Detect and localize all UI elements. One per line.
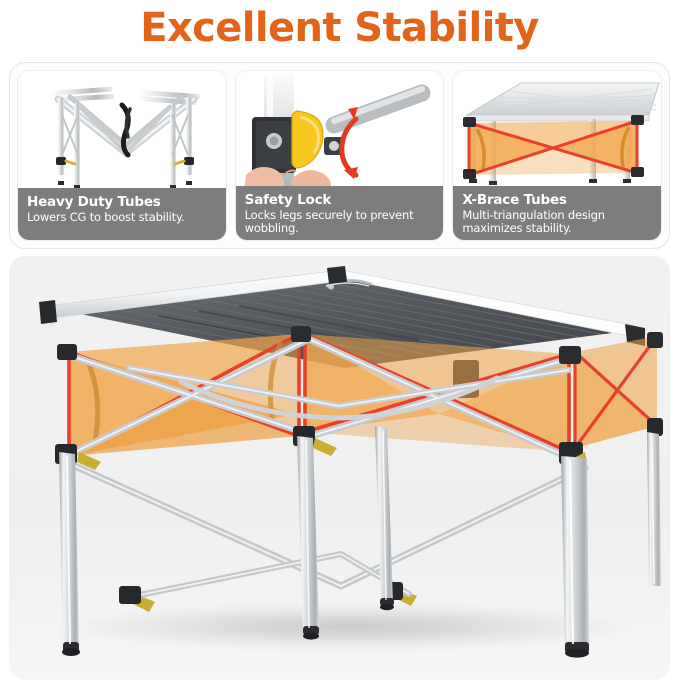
- feature-card-label: Heavy Duty Tubes Lowers CG to boost stab…: [18, 188, 226, 240]
- feature-card-heavy-duty-tubes[interactable]: Heavy Duty Tubes Lowers CG to boost stab…: [17, 70, 227, 241]
- feature-card-title: Safety Lock: [245, 192, 435, 208]
- folding-camp-table-illustration: [9, 256, 670, 680]
- feature-card-desc: Lowers CG to boost stability.: [27, 211, 217, 225]
- page-title: Excellent Stability: [0, 4, 679, 52]
- feature-card-title: Heavy Duty Tubes: [27, 194, 217, 210]
- feature-cards-row: Heavy Duty Tubes Lowers CG to boost stab…: [9, 62, 670, 249]
- feature-card-label: Safety Lock Locks legs securely to preve…: [236, 186, 444, 240]
- feature-card-title: X-Brace Tubes: [462, 192, 652, 208]
- table-with-orange-x-brace-highlight: [453, 71, 661, 186]
- feature-card-desc: Locks legs securely to prevent wobbling.: [245, 209, 435, 236]
- table-frame-x-legs-illustration: [18, 71, 226, 188]
- hero-product-image: [9, 256, 670, 680]
- feature-card-safety-lock[interactable]: Safety Lock Locks legs securely to preve…: [235, 70, 445, 241]
- infographic-page: Excellent Stability: [0, 0, 679, 698]
- feature-card-desc: Multi-triangulation design maximizes sta…: [462, 209, 652, 236]
- feature-card-x-brace-tubes[interactable]: X-Brace Tubes Multi-triangulation design…: [452, 70, 662, 241]
- yellow-safety-lock-lever-closeup: [236, 71, 444, 186]
- feature-card-label: X-Brace Tubes Multi-triangulation design…: [453, 186, 661, 240]
